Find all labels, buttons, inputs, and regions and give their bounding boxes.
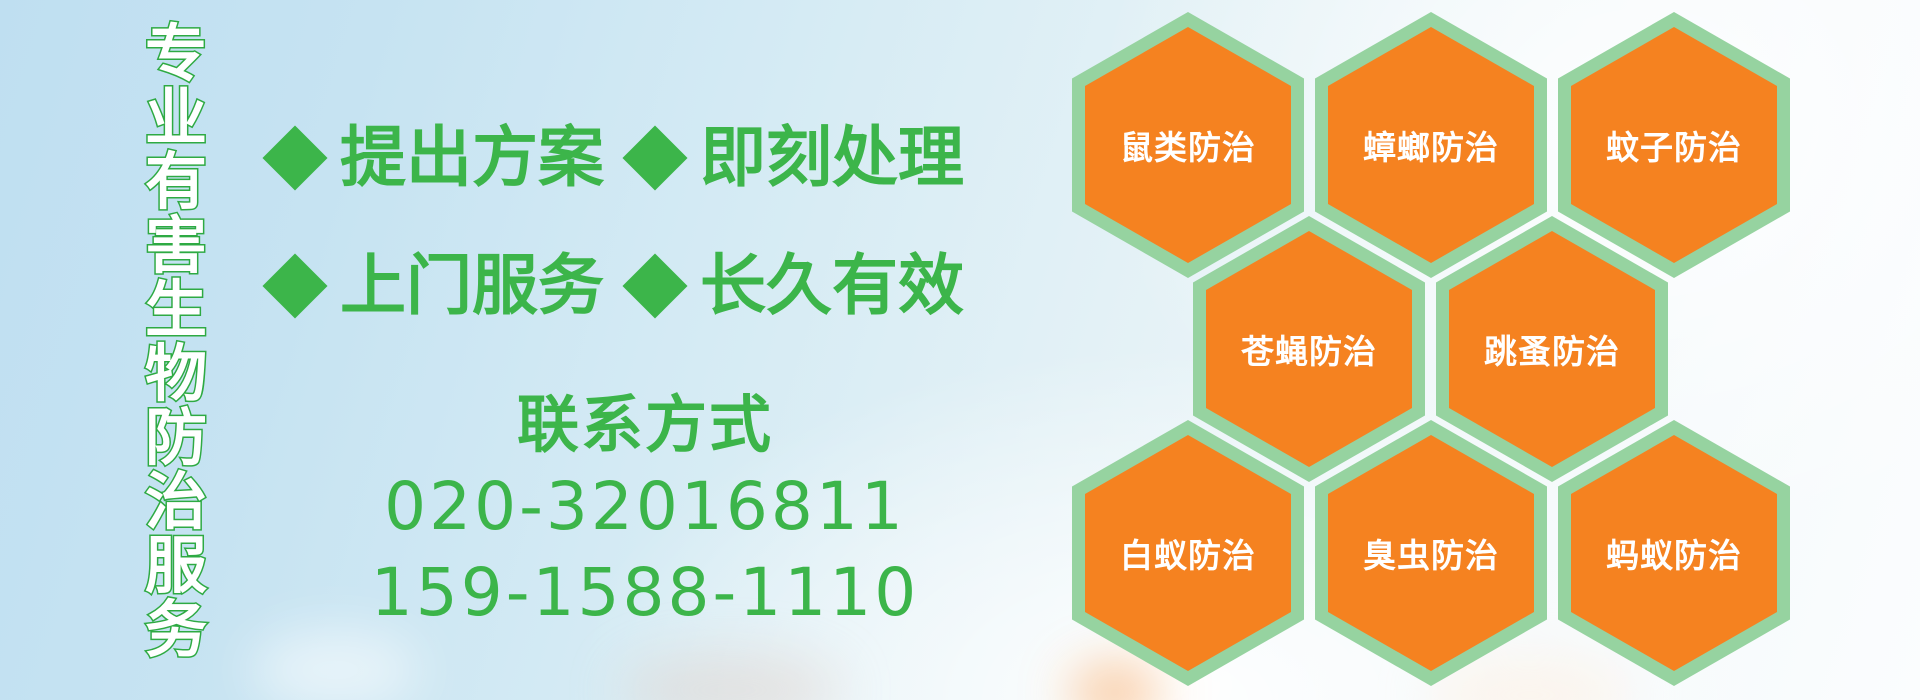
- vertical-slogan-char: 生: [145, 278, 207, 342]
- diamond-bullet-icon: [622, 125, 687, 190]
- feature-row: 上门服务 长久有效: [272, 222, 1062, 350]
- hex-cell-ant[interactable]: 蚂蚁防治: [1558, 420, 1790, 686]
- diamond-bullet-icon: [262, 125, 327, 190]
- vertical-slogan-char: 专: [145, 22, 207, 86]
- feature-item-longlasting: 长久有效: [632, 251, 964, 321]
- vertical-slogan-char: 物: [145, 342, 207, 406]
- feature-label: 上门服务: [340, 251, 604, 321]
- diamond-bullet-icon: [262, 253, 327, 318]
- contact-block: 联系方式 020-32016811 159-1588-1110: [300, 386, 990, 636]
- contact-phone-mobile[interactable]: 159-1588-1110: [300, 550, 990, 636]
- contact-title: 联系方式: [300, 386, 990, 464]
- vertical-slogan-char: 服: [145, 534, 207, 598]
- hex-label: 白蚁防治: [1072, 420, 1304, 686]
- vertical-slogan-char: 治: [145, 470, 207, 534]
- vertical-slogan-char: 害: [145, 214, 207, 278]
- diamond-bullet-icon: [622, 253, 687, 318]
- vertical-slogan-char: 务: [145, 598, 207, 662]
- vertical-slogan-char: 业: [145, 86, 207, 150]
- feature-label: 提出方案: [340, 123, 604, 193]
- feature-label: 即刻处理: [700, 123, 964, 193]
- background-blob: [620, 655, 840, 700]
- service-honeycomb: 鼠类防治 蟑螂防治 蚊子防治 苍蝇防治 跳蚤防治 白蚁防治: [1052, 0, 1812, 700]
- hex-label: 蚂蚁防治: [1558, 420, 1790, 686]
- background-blob: [250, 630, 420, 700]
- contact-phone-landline[interactable]: 020-32016811: [300, 464, 990, 550]
- feature-label: 长久有效: [700, 251, 964, 321]
- hex-label: 臭虫防治: [1315, 420, 1547, 686]
- vertical-slogan-char: 防: [145, 406, 207, 470]
- vertical-slogan: 专 业 有 害 生 物 防 治 服 务: [128, 22, 224, 662]
- hex-cell-bedbug[interactable]: 臭虫防治: [1315, 420, 1547, 686]
- hex-cell-termite[interactable]: 白蚁防治: [1072, 420, 1304, 686]
- pest-control-banner: 专 业 有 害 生 物 防 治 服 务 提出方案 即刻处理 上门服务: [0, 0, 1920, 700]
- feature-row: 提出方案 即刻处理: [272, 94, 1062, 222]
- feature-item-proposal: 提出方案: [272, 123, 604, 193]
- feature-list: 提出方案 即刻处理 上门服务 长久有效: [272, 94, 1062, 350]
- feature-item-onsite: 上门服务: [272, 251, 604, 321]
- feature-item-immediate: 即刻处理: [632, 123, 964, 193]
- vertical-slogan-char: 有: [145, 150, 207, 214]
